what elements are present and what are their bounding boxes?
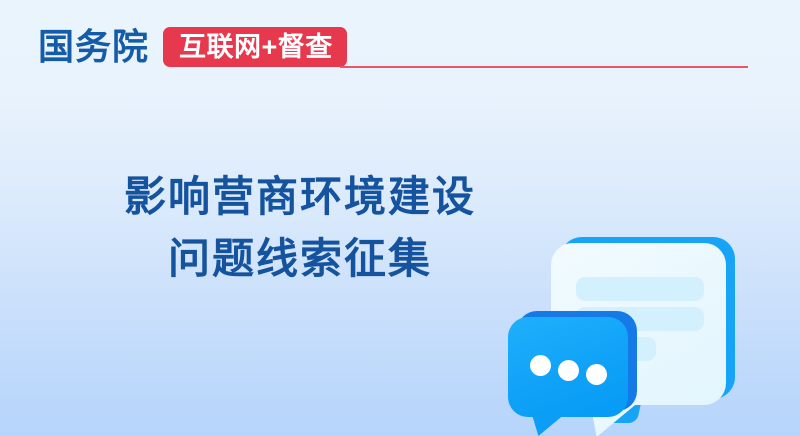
badge-label: 互联网+督查	[179, 34, 333, 61]
typing-dot-2	[558, 360, 579, 381]
gov-council-title: 国务院	[38, 26, 149, 68]
typing-dot-1	[530, 355, 551, 376]
banner-header: 国务院 互联网+督查	[0, 0, 800, 90]
internet-plus-supervision-badge[interactable]: 互联网+督查	[163, 27, 347, 67]
campaign-banner: 国务院 互联网+督查 影响营商环境建设 问题线索征集	[0, 0, 800, 436]
message-text-bar-1	[576, 277, 704, 301]
header-divider-rule	[340, 66, 748, 68]
chat-bubbles-illustration	[480, 205, 800, 436]
typing-dot-3	[586, 364, 607, 385]
